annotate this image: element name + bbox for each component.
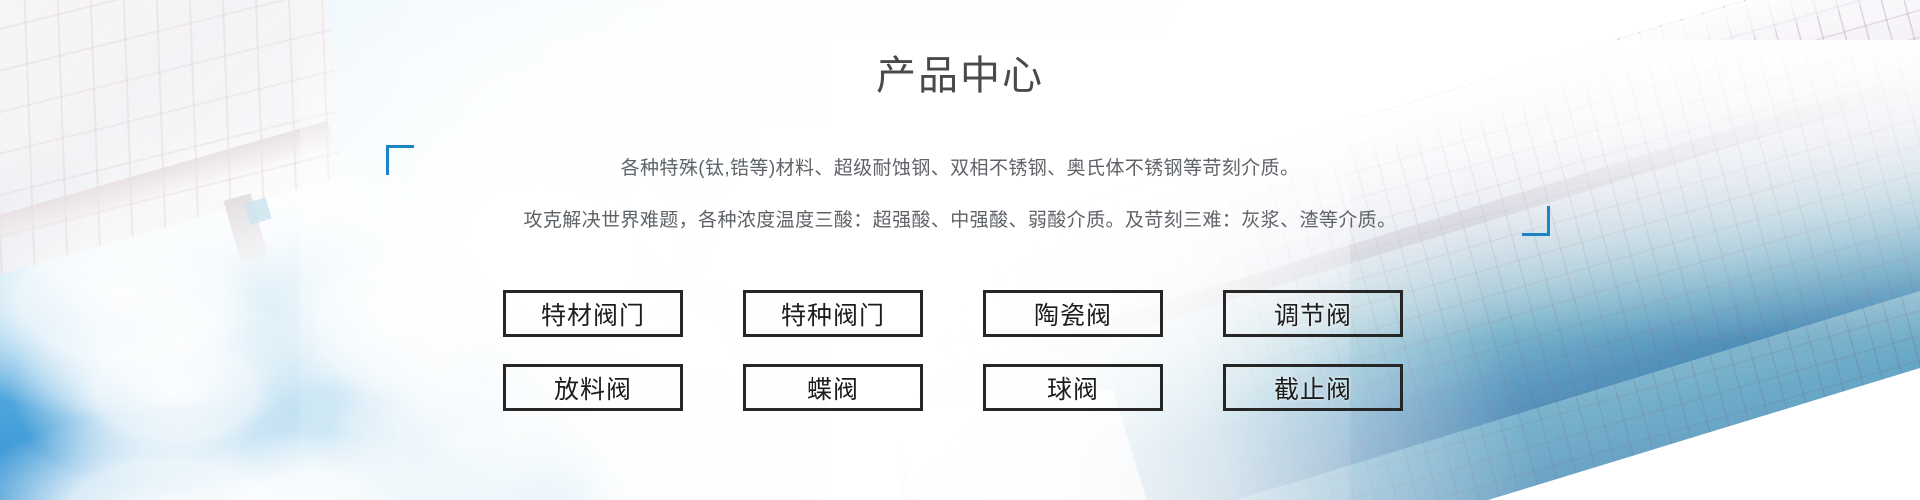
category-button-label: 特种阀门 [781,296,885,332]
category-button-ceramic-valve[interactable]: 陶瓷阀 [983,290,1163,337]
category-button-label: 陶瓷阀 [1034,296,1112,332]
category-button-label: 蝶阀 [807,370,859,406]
banner-content: 产品中心 各种特殊(钛,锆等)材料、超级耐蚀钢、双相不锈钢、奥氏体不锈钢等苛刻介… [0,0,1920,500]
category-button-label: 调节阀 [1274,296,1352,332]
category-button-special-material-valve[interactable]: 特材阀门 [503,290,683,337]
subtitle-line-2: 攻克解决世界难题，各种浓度温度三酸：超强酸、中强酸、弱酸介质。及苛刻三难：灰浆、… [0,202,1920,240]
page-title: 产品中心 [0,52,1920,100]
category-button-control-valve[interactable]: 调节阀 [1223,290,1403,337]
category-button-label: 特材阀门 [541,296,645,332]
subtitle-line-1: 各种特殊(钛,锆等)材料、超级耐蚀钢、双相不锈钢、奥氏体不锈钢等苛刻介质。 [0,150,1920,188]
category-button-stop-valve[interactable]: 截止阀 [1223,364,1403,411]
category-button-discharge-valve[interactable]: 放料阀 [503,364,683,411]
category-button-label: 放料阀 [554,370,632,406]
product-category-grid: 特材阀门 特种阀门 陶瓷阀 调节阀 放料阀 蝶阀 球阀 截止阀 [503,290,1403,411]
category-button-label: 截止阀 [1274,370,1352,406]
product-center-banner: 产品中心 各种特殊(钛,锆等)材料、超级耐蚀钢、双相不锈钢、奥氏体不锈钢等苛刻介… [0,0,1920,500]
category-button-special-type-valve[interactable]: 特种阀门 [743,290,923,337]
category-button-label: 球阀 [1047,370,1099,406]
category-button-ball-valve[interactable]: 球阀 [983,364,1163,411]
category-button-butterfly-valve[interactable]: 蝶阀 [743,364,923,411]
banner-subtitle-block: 各种特殊(钛,锆等)材料、超级耐蚀钢、双相不锈钢、奥氏体不锈钢等苛刻介质。 攻克… [0,150,1920,240]
